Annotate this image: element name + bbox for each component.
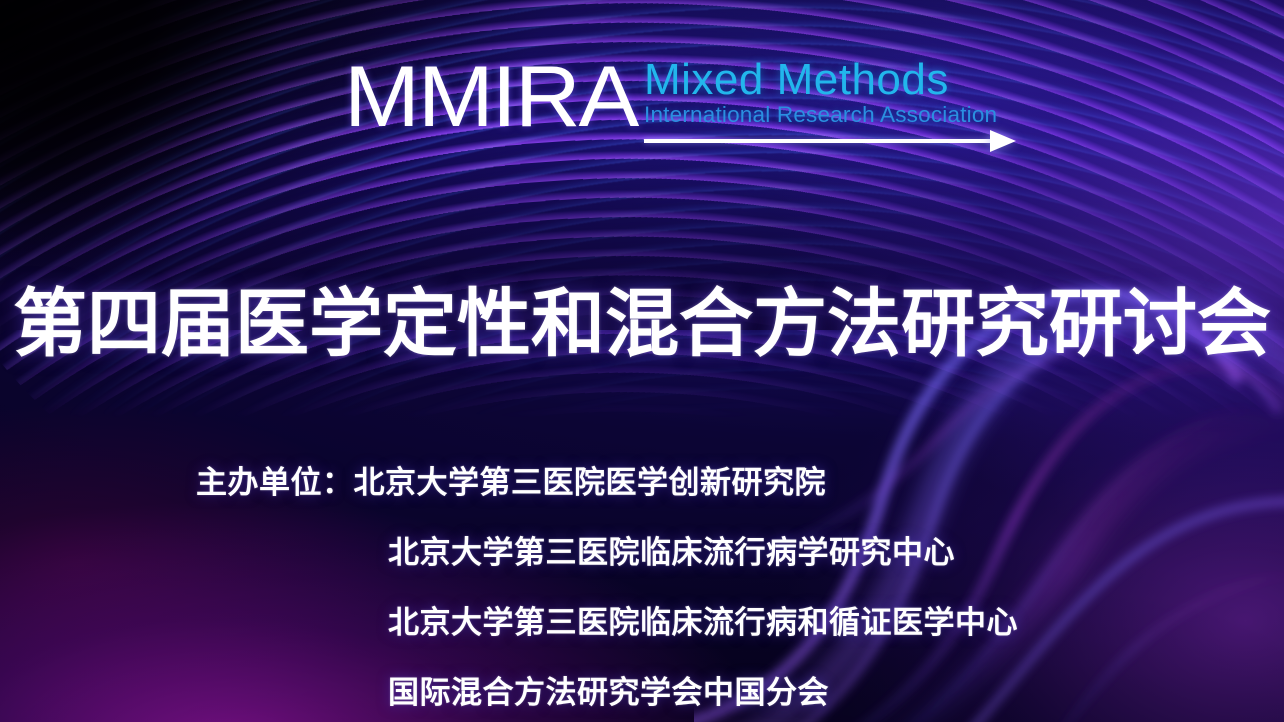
mmira-tagline: Mixed Methods International Research Ass… [644, 56, 1024, 128]
mmira-tagline-line2: International Research Association [644, 102, 1024, 128]
organizer-line-4: 国际混合方法研究学会中国分会 [196, 658, 1018, 722]
organizers-block: 主办单位：北京大学第三医院医学创新研究院 北京大学第三医院临床流行病学研究中心 … [196, 448, 1018, 722]
mmira-wordmark: MMIRA [344, 54, 637, 140]
organizer-line-2: 北京大学第三医院临床流行病学研究中心 [196, 518, 1018, 588]
page-title: 第四届医学定性和混合方法研究研讨会 [0, 282, 1284, 366]
mmira-tagline-line1: Mixed Methods [644, 56, 1024, 104]
organizer-name-3: 北京大学第三医院临床流行病和循证医学中心 [388, 605, 1018, 641]
arrow-head [990, 130, 1016, 152]
organizer-line-3: 北京大学第三医院临床流行病和循证医学中心 [196, 588, 1018, 658]
right-arrow-icon [644, 130, 1016, 152]
organizer-line-1: 主办单位：北京大学第三医院医学创新研究院 [196, 448, 1018, 518]
presentation-slide: MMIRA Mixed Methods International Resear… [0, 0, 1284, 722]
arrow-shaft [644, 139, 992, 143]
organizers-label: 主办单位： [196, 448, 354, 518]
organizer-name-2: 北京大学第三医院临床流行病学研究中心 [388, 535, 955, 571]
mmira-logo: MMIRA Mixed Methods International Resear… [344, 52, 1024, 164]
organizer-name-4: 国际混合方法研究学会中国分会 [388, 675, 829, 711]
organizer-name-1: 北京大学第三医院医学创新研究院 [354, 465, 827, 501]
